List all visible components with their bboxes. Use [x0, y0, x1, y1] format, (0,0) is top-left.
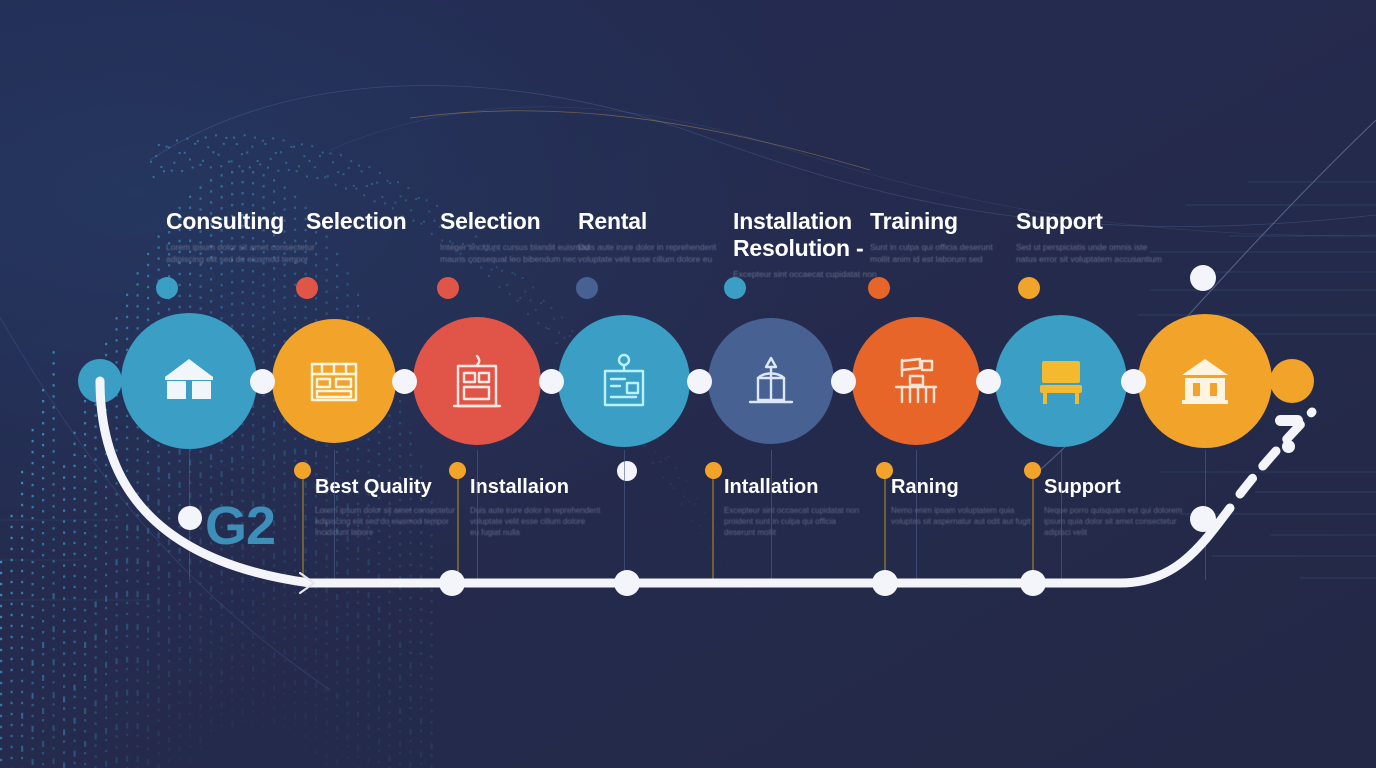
bottom-step-dot [705, 462, 722, 479]
bottom-step-description: Lorem ipsum dolor sit amet consectetur a… [315, 505, 490, 538]
bottom-step-4[interactable]: RaningNemo enim ipsam voluptatem quia vo… [891, 476, 1066, 527]
baseline-node [614, 570, 640, 596]
bottom-white-dot [617, 461, 637, 481]
bottom-step-2[interactable]: InstallaionDuis aute irure dolor in repr… [470, 476, 645, 538]
top-step-dot [156, 277, 178, 299]
circle-connector-dot [831, 369, 856, 394]
stage-rigging-icon [744, 354, 798, 408]
edge-accent-dot [78, 359, 122, 403]
circle-drop-stem [334, 450, 335, 580]
service-circle-3[interactable] [413, 317, 541, 445]
top-step-7[interactable]: SupportSed ut perspiciatis unde omnis is… [1016, 208, 1206, 265]
brand-mark-g2: G2 [205, 495, 275, 557]
top-step-dot [868, 277, 890, 299]
top-step-description: Sed ut perspiciatis unde omnis iste natu… [1016, 242, 1206, 265]
bottom-step-dot [1024, 462, 1041, 479]
bottom-step-title: Intallation [724, 476, 899, 499]
bottom-step-stem [712, 470, 714, 585]
circle-connector-dot [976, 369, 1001, 394]
service-circle-8[interactable] [1138, 314, 1272, 448]
kiosk-booth-icon [452, 353, 502, 409]
service-circle-1[interactable] [121, 313, 257, 449]
bottom-step-title: Best Quality [315, 476, 490, 499]
infographic-canvas: ConsultingLorem ipsum dolor sit amet con… [0, 0, 1376, 768]
flow-node [178, 506, 202, 530]
accent-dot [1190, 265, 1216, 291]
top-step-dot [576, 277, 598, 299]
circle-connector-dot [539, 369, 564, 394]
circle-connector-dot [687, 369, 712, 394]
bottom-step-dot [294, 462, 311, 479]
dash-dot-1 [1282, 440, 1295, 453]
circle-drop-stem [624, 450, 625, 580]
bottom-step-stem [884, 470, 886, 585]
bench-furniture-icon [1032, 355, 1090, 407]
top-step-description: Lorem ipsum dolor sit amet consectetur a… [166, 242, 356, 265]
storefront-icon [308, 356, 360, 406]
bottom-step-stem [457, 470, 459, 585]
top-step-dot [437, 277, 459, 299]
circle-drop-stem [1205, 450, 1206, 580]
top-step-dot [296, 277, 318, 299]
bottom-step-stem [302, 470, 304, 585]
bottom-step-1[interactable]: Best QualityLorem ipsum dolor sit amet c… [315, 476, 490, 538]
circle-connector-dot [1121, 369, 1146, 394]
edge-accent-dot [1270, 359, 1314, 403]
bottom-step-description: Neque porro quisquam est qui dolorem ips… [1044, 505, 1219, 538]
service-circle-5[interactable] [708, 318, 834, 444]
bottom-step-3[interactable]: IntallationExcepteur sint occaecat cupid… [724, 476, 899, 538]
bottom-step-5[interactable]: SupportNeque porro quisquam est qui dolo… [1044, 476, 1219, 538]
service-circle-2[interactable] [272, 319, 396, 443]
service-circle-6[interactable] [852, 317, 980, 445]
tent-pavilion-icon [161, 355, 217, 407]
bottom-step-title: Support [1044, 476, 1219, 499]
bottom-step-title: Raning [891, 476, 1066, 499]
circle-drop-stem [189, 450, 190, 580]
top-step-description: Excepteur sint occaecat cupidatat non [733, 269, 923, 281]
pavilion-house-icon [1179, 356, 1231, 406]
circle-connector-dot [250, 369, 275, 394]
circle-drop-stem [771, 450, 772, 580]
top-step-dot [724, 277, 746, 299]
dash-pill-1 [1275, 415, 1303, 426]
service-circle-4[interactable] [558, 315, 690, 447]
circle-drop-stem [477, 450, 478, 580]
bottom-step-dot [876, 462, 893, 479]
trade-booth-icon [890, 354, 942, 408]
circle-connector-dot [392, 369, 417, 394]
top-step-title: Support [1016, 208, 1206, 235]
top-step-dot [1018, 277, 1040, 299]
service-circle-7[interactable] [995, 315, 1127, 447]
bottom-step-stem [1032, 470, 1034, 585]
exhibition-stand-icon [598, 353, 650, 409]
bottom-step-description: Nemo enim ipsam voluptatem quia voluptas… [891, 505, 1066, 527]
circle-drop-stem [916, 450, 917, 580]
bottom-step-description: Excepteur sint occaecat cupidatat non pr… [724, 505, 899, 538]
bottom-step-title: Installaion [470, 476, 645, 499]
circle-drop-stem [1061, 450, 1062, 580]
bottom-step-dot [449, 462, 466, 479]
baseline-node [439, 570, 465, 596]
bottom-step-description: Duis aute irure dolor in reprehenderit v… [470, 505, 645, 538]
